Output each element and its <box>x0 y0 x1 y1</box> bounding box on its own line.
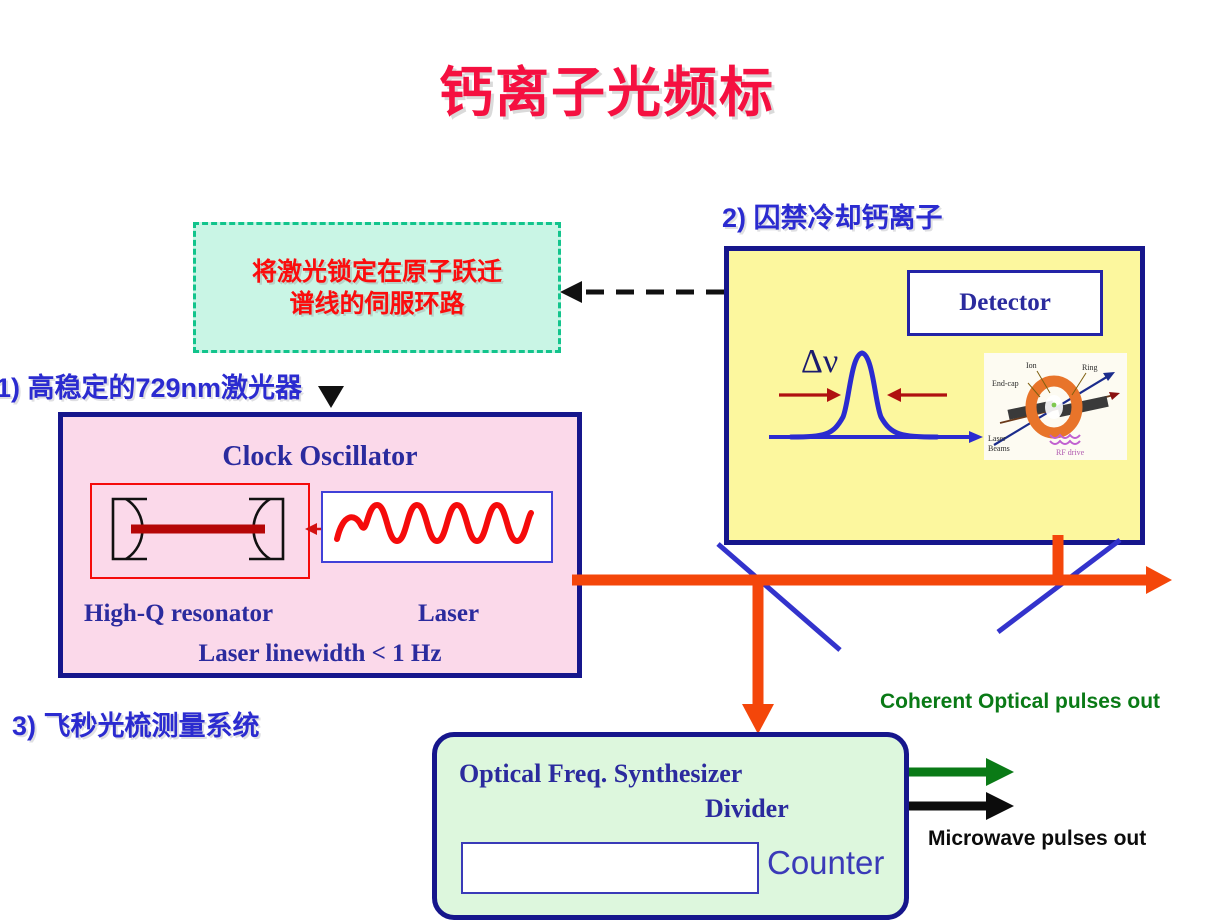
main-beam-arrowhead <box>1146 566 1172 594</box>
frequency-comb-box: Optical Freq. Synthesizer Divider Counte… <box>432 732 909 920</box>
microwave-output-arrowhead <box>986 792 1014 820</box>
counter-label: Counter <box>767 844 884 882</box>
microwave-output-label: Microwave pulses out <box>928 827 1146 851</box>
coherent-optical-output-label: Coherent Optical pulses out <box>880 690 1160 714</box>
counter-display-field[interactable] <box>461 842 759 894</box>
beam-to-comb-arrowhead <box>742 704 774 734</box>
optical-output-arrowhead <box>986 758 1014 786</box>
feedback-dashed-arrow <box>560 281 724 303</box>
servo-to-clock-arrow <box>318 386 344 408</box>
optical-freq-synthesizer-label: Optical Freq. Synthesizer <box>459 759 742 789</box>
divider-label: Divider <box>705 794 789 824</box>
beam-splitter-left <box>718 544 840 650</box>
